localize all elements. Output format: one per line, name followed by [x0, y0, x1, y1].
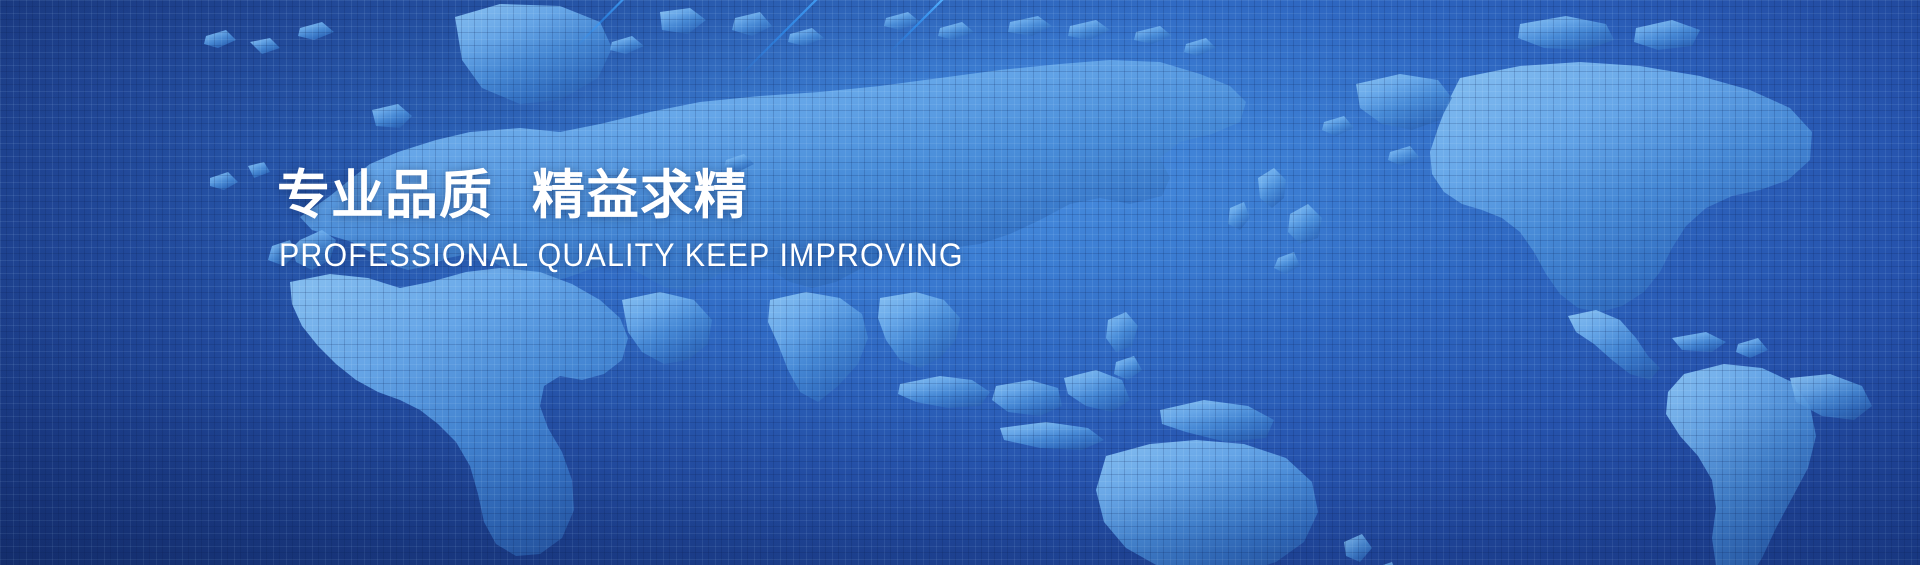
promo-banner: 专业品质 精益求精 PROFESSIONAL QUALITY KEEP IMPR…	[0, 0, 1920, 565]
light-streak-decoration	[0, 0, 1920, 565]
headline-chinese: 专业品质 精益求精	[277, 168, 1000, 224]
grid-shadow-overlay	[0, 0, 1920, 565]
headline-english: PROFESSIONAL QUALITY KEEP IMPROVING	[279, 238, 964, 273]
world-map-icon	[0, 0, 1920, 565]
vignette-overlay	[0, 0, 1920, 565]
headline-block: 专业品质 精益求精 PROFESSIONAL QUALITY KEEP IMPR…	[277, 168, 1000, 273]
grid-mesh-overlay	[0, 0, 1920, 565]
ocean-tint-overlay	[0, 0, 1920, 565]
ocean-background	[0, 0, 1920, 565]
